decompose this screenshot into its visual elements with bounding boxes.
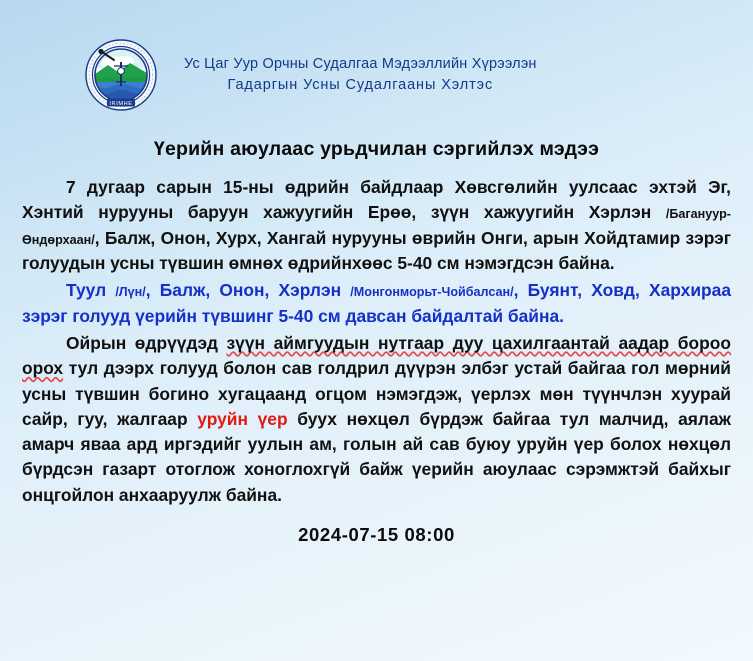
document-header: IRIMHE Ус Цаг Уур Орчны Судалгаа Мэдээлл… bbox=[0, 0, 753, 112]
p2-part2: , Балж, Онон, Хэрлэн bbox=[146, 280, 351, 300]
p2-part3: , Буянт, Ховд, Хархираа bbox=[514, 280, 731, 300]
p1-part1: 7 дугаар сарын 15-ны өдрийн байдлаар Хөв… bbox=[22, 177, 731, 222]
p2-note-mongonmoryt-choibalsan: /Монгонморьт-Чойбалсан/ bbox=[350, 285, 513, 299]
organization-names: Ус Цаг Уур Орчны Судалгаа Мэдээллийн Хүр… bbox=[184, 54, 537, 96]
p1-part2: , Балж, Онон, Хурх, Хангай нурууны өврий… bbox=[22, 228, 731, 273]
paragraph-rivers-above-flood-level: Туул /Лүн/, Балж, Онон, Хэрлэн /Монгонмо… bbox=[22, 278, 731, 329]
p2-note-lun: /Лүн/ bbox=[115, 285, 145, 299]
flood-warning-document: IRIMHE Ус Цаг Уур Орчны Судалгаа Мэдээлл… bbox=[0, 0, 753, 661]
organization-name-line2: Гадаргын Усны Судалгааны Хэлтэс bbox=[184, 75, 537, 96]
document-datetime: 2024-07-15 08:00 bbox=[0, 524, 753, 546]
organization-name-line1: Ус Цаг Уур Орчны Судалгаа Мэдээллийн Хүр… bbox=[184, 54, 537, 75]
p3-highlight-flash-flood: уруйн үер bbox=[197, 409, 287, 429]
p2-part1: Туул bbox=[66, 280, 115, 300]
paragraph-water-levels: 7 дугаар сарын 15-ны өдрийн байдлаар Хөв… bbox=[22, 175, 731, 276]
logo-caption-text: IRIMHE bbox=[109, 101, 132, 107]
document-body: 7 дугаар сарын 15-ны өдрийн байдлаар Хөв… bbox=[22, 175, 731, 508]
p2-part4: зэрэг голууд үерийн түвшинг 5-40 см давс… bbox=[22, 306, 564, 326]
paragraph-forecast-warning: Ойрын өдрүүдэд зүүн аймгуудын нутгаар ду… bbox=[22, 331, 731, 508]
page-title: Үерийн аюулаас урьдчилан сэргийлэх мэдээ bbox=[0, 138, 753, 161]
p3-part1: Ойрын өдрүүдэд bbox=[66, 333, 227, 353]
institute-emblem-logo: IRIMHE bbox=[84, 38, 158, 112]
